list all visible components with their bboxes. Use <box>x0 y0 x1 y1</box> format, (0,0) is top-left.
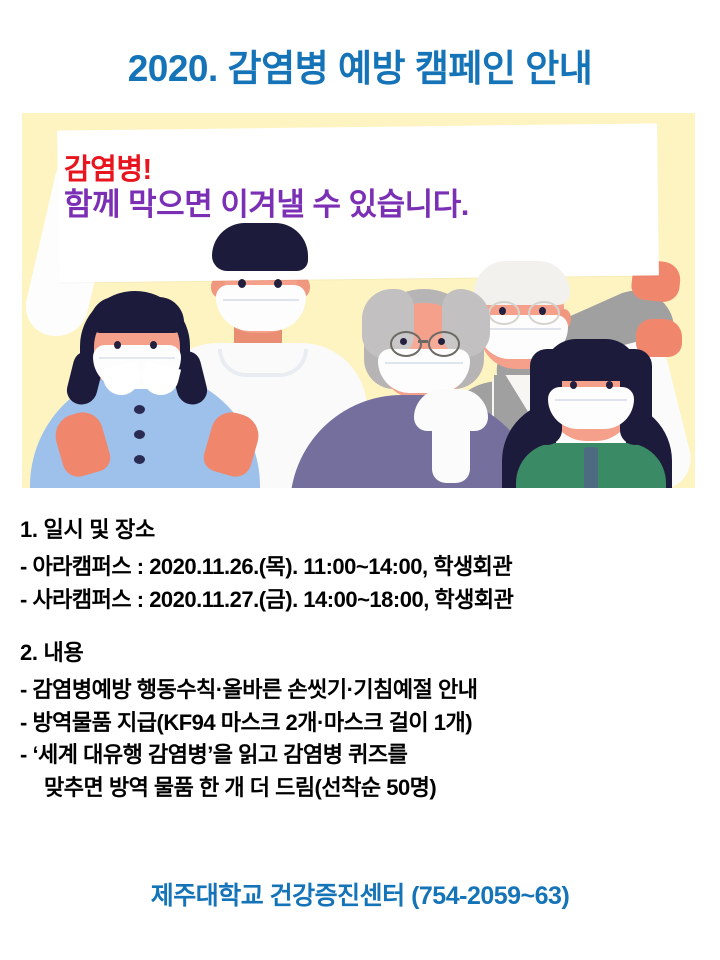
schoolgirl-face-mask-icon <box>548 387 634 429</box>
schoolgirl-eye-left <box>570 381 577 389</box>
girl-eye-left <box>114 341 121 349</box>
campaign-illustration: 감염병! 함께 막으면 이겨낼 수 있습니다. <box>22 113 695 488</box>
page-title: 2020. 감염병 예방 캠페인 안내 <box>0 38 720 92</box>
grandmother-glasses-bridge <box>418 340 428 343</box>
man-eye-left <box>238 279 246 288</box>
grandfather-eye-left <box>499 307 506 315</box>
man-hair <box>212 223 308 271</box>
placard-headline: 감염병! <box>64 153 469 187</box>
section-schedule-line-2: - 사라캠퍼스 : 2020.11.27.(금). 14:00~18:00, 학… <box>20 584 704 617</box>
girl-eye-right <box>150 341 157 349</box>
girl-dress-buttons <box>134 405 145 480</box>
grandmother-glasses-right-lens <box>428 331 460 357</box>
schoolgirl-hair-fringe <box>544 339 638 381</box>
grandmother-eye-right <box>438 338 445 345</box>
grandmother-eye-left <box>400 338 407 345</box>
girl-hair-fringe <box>90 297 184 333</box>
schoolgirl-eye-right <box>606 381 613 389</box>
section-contents: 2. 내용 - 감염병예방 행동수칙·올바른 손씻기·기침예절 안내 - 방역물… <box>20 642 704 804</box>
section-contents-line-4: 맞추면 방역 물품 한 개 더 드림(선착순 50명) <box>20 772 704 805</box>
placard-message: 감염병! 함께 막으면 이겨낼 수 있습니다. <box>64 153 469 224</box>
campaign-poster: 2020. 감염병 예방 캠페인 안내 감염병! 함께 막으면 이겨낼 수 있습… <box>0 0 720 960</box>
organization-contact: 제주대학교 건강증진센터 (754-2059~63) <box>0 876 720 912</box>
schoolgirl-necktie <box>584 447 598 488</box>
grandfather-eye-right <box>539 307 546 315</box>
man-collar <box>218 349 308 377</box>
man-eye-right <box>274 279 282 288</box>
placard-subline: 함께 막으면 이겨낼 수 있습니다. <box>64 187 469 224</box>
section-schedule-heading: 1. 일시 및 장소 <box>20 519 704 541</box>
grandmother-scarf-tail <box>432 413 470 483</box>
section-contents-line-1: - 감염병예방 행동수칙·올바른 손씻기·기침예절 안내 <box>20 674 704 707</box>
man-face-mask-icon <box>216 285 306 331</box>
grandmother-glasses-left-lens <box>390 331 422 357</box>
section-contents-line-2: - 방역물품 지급(KF94 마스크 2개·마스크 걸이 1개) <box>20 707 704 740</box>
section-schedule: 1. 일시 및 장소 - 아라캠퍼스 : 2020.11.26.(목). 11:… <box>20 519 704 616</box>
grandmother-face-mask-icon <box>378 349 470 393</box>
poster-body-text: 1. 일시 및 장소 - 아라캠퍼스 : 2020.11.26.(목). 11:… <box>20 519 704 804</box>
grandfather-hair <box>474 261 570 305</box>
section-contents-heading: 2. 내용 <box>20 642 704 664</box>
section-contents-line-3: - ‘세계 대유행 감염병’을 읽고 감염병 퀴즈를 <box>20 739 704 772</box>
section-schedule-line-1: - 아라캠퍼스 : 2020.11.26.(목). 11:00~14:00, 학… <box>20 551 704 584</box>
